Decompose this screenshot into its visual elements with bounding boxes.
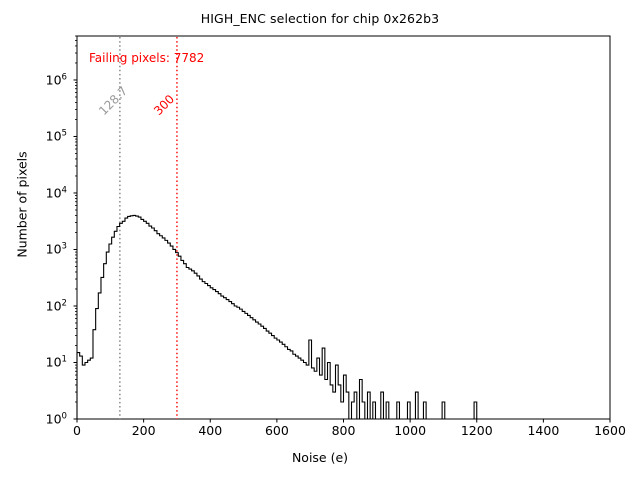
x-tick-label: 1600 — [594, 423, 626, 438]
y-axis-label: Number of pixels — [15, 105, 30, 305]
x-axis-label: Noise (e) — [0, 450, 640, 465]
y-tick-label: 106 — [46, 72, 67, 87]
x-tick-label: 1400 — [527, 423, 559, 438]
x-tick-label: 0 — [73, 423, 81, 438]
y-tick-label: 105 — [46, 129, 67, 144]
axes-frame — [77, 36, 610, 419]
x-axis-ticks — [77, 419, 610, 423]
y-tick-label: 101 — [46, 355, 67, 370]
x-tick-label: 600 — [265, 423, 289, 438]
matplotlib-figure: HIGH_ENC selection for chip 0x262b3 Numb… — [0, 0, 640, 480]
histogram-step-line — [77, 215, 487, 419]
x-tick-label: 800 — [332, 423, 356, 438]
y-tick-label: 103 — [46, 242, 67, 257]
y-tick-label: 100 — [46, 411, 67, 426]
failing-pixels-annotation: Failing pixels: 7782 — [89, 51, 204, 65]
x-tick-label: 200 — [132, 423, 156, 438]
x-tick-label: 1000 — [394, 423, 426, 438]
x-tick-label: 400 — [198, 423, 222, 438]
y-tick-label: 102 — [46, 298, 67, 313]
x-tick-label: 1200 — [461, 423, 493, 438]
histogram-plot — [0, 0, 640, 480]
y-tick-label: 104 — [46, 185, 67, 200]
